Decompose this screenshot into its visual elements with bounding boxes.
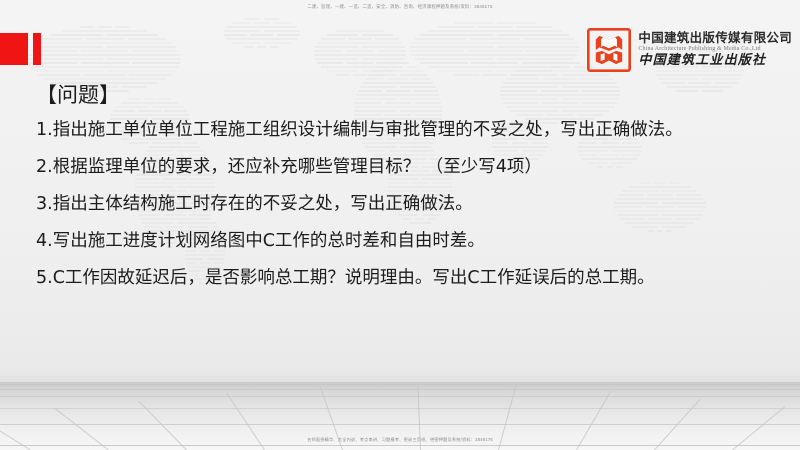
red-block-large — [0, 33, 28, 65]
page-title: 【问题】 — [36, 80, 776, 110]
logo-company-cn: 中国建筑出版传媒有限公司 — [638, 31, 792, 45]
bottom-watermark-text: 名师面授精华、大全内训、考点串讲、习题模考、密训三页纸、绝密押题及系统/资料：3… — [0, 436, 800, 444]
top-watermark-text: 二建、监理、一建、一造、二造、安全、消防、咨询、经济课程押题及系统/资料：384… — [0, 3, 800, 11]
wall-floor-shadow — [0, 366, 800, 382]
presentation-slide: 二建、监理、一建、一造、二造、安全、消防、咨询、经济课程押题及系统/资料：384… — [0, 0, 800, 450]
red-block-bar — [33, 33, 41, 65]
question-item-4: 4.写出施工进度计划网络图中C工作的总时差和自由时差。 — [36, 227, 776, 256]
slide-content: 【问题】 1.指出施工单位单位工程施工组织设计编制与审批管理的不妥之处，写出正确… — [36, 80, 776, 301]
publisher-logo: 中国建筑出版传媒有限公司 China Architecture Publishi… — [587, 27, 792, 73]
question-item-5: 5.C工作因故延迟后，是否影响总工期？说明理由。写出C工作延误后的总工期。 — [36, 264, 776, 293]
question-item-1: 1.指出施工单位单位工程施工组织设计编制与审批管理的不妥之处，写出正确做法。 — [36, 116, 760, 145]
logo-text-block: 中国建筑出版传媒有限公司 China Architecture Publishi… — [638, 28, 792, 72]
logo-company-en: China Architecture Publishing & Media Co… — [638, 45, 792, 53]
china-architecture-press-emblem-icon — [587, 28, 631, 72]
question-item-3: 3.指出主体结构施工时存在的不妥之处，写出正确做法。 — [36, 190, 776, 219]
logo-press-cn: 中国建筑工业出版社 — [638, 53, 792, 69]
question-item-2: 2.根据监理单位的要求，还应补充哪些管理目标？ （至少写4项） — [36, 153, 776, 182]
